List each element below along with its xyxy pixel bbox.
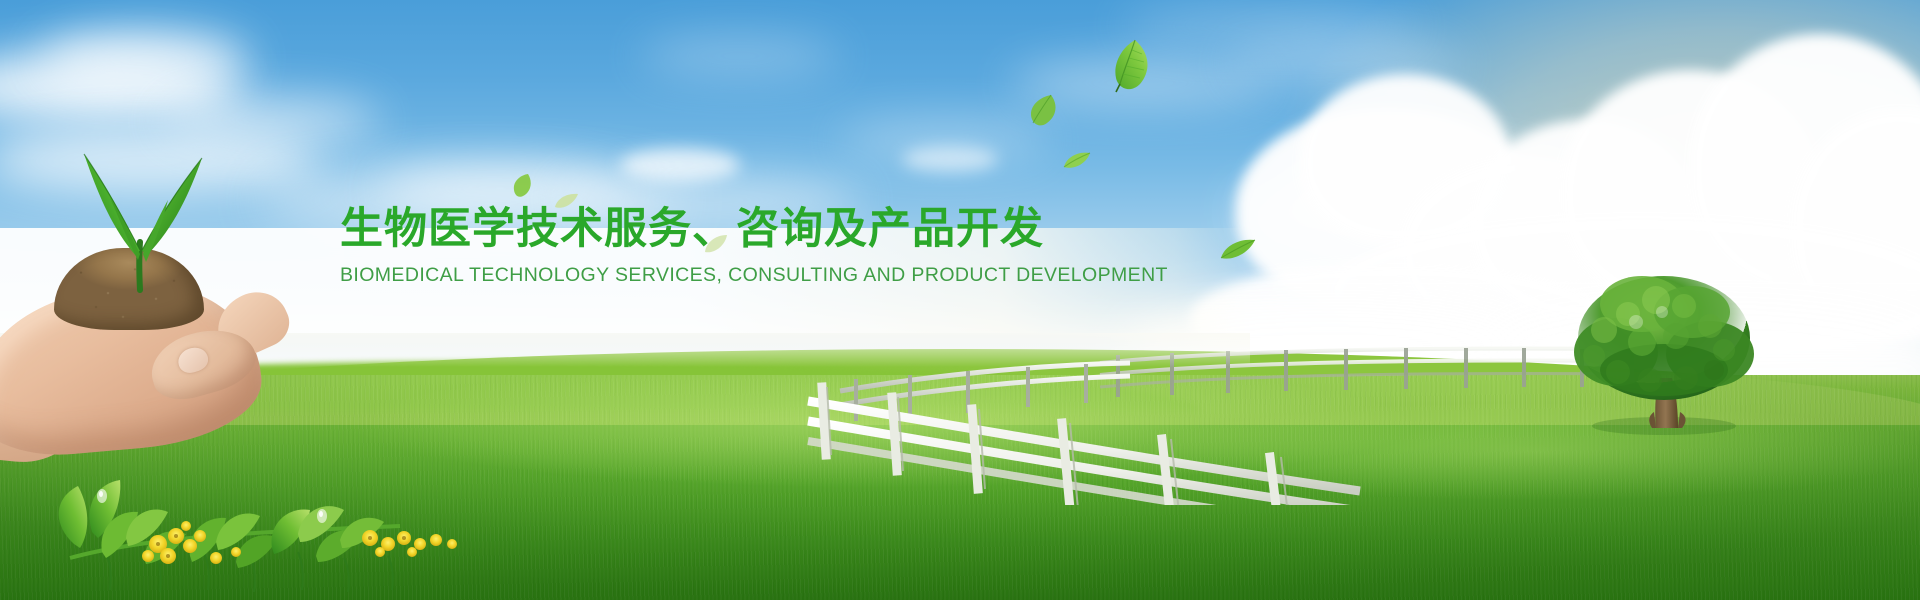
hero-banner: 生物医学技术服务、咨询及产品开发 BIOMEDICAL TECHNOLOGY S… xyxy=(0,0,1920,600)
floating-leaf-icon xyxy=(552,190,580,212)
floating-leaf-icon xyxy=(700,232,730,258)
tree-illustration xyxy=(1552,260,1772,440)
fence-near-run xyxy=(808,387,1360,505)
banner-title: 生物医学技术服务、咨询及产品开发 xyxy=(340,208,1240,251)
floating-leaf-icon xyxy=(1216,236,1258,264)
foreground-plants xyxy=(40,440,480,600)
floating-leaf-icon xyxy=(512,172,534,198)
banner-subtitle: BIOMEDICAL TECHNOLOGY SERVICES, CONSULTI… xyxy=(340,251,1240,287)
floating-leaf-icon xyxy=(1060,148,1092,172)
tree-canopy xyxy=(1574,276,1754,400)
hand-with-seedling xyxy=(0,140,300,460)
floating-leaf-icon xyxy=(1026,92,1060,128)
banner-copy: 生物医学技术服务、咨询及产品开发 BIOMEDICAL TECHNOLOGY S… xyxy=(340,208,1240,287)
floating-leaf-icon xyxy=(1104,36,1160,94)
seedling-illustration xyxy=(36,130,256,300)
